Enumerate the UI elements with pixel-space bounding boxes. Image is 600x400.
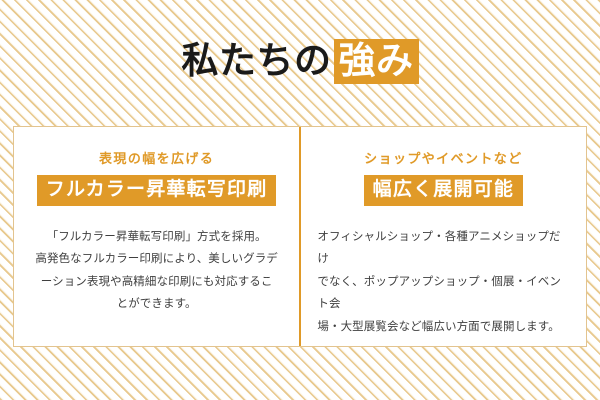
- body-line: 場・大型展覧会など幅広い方面で展開します。: [317, 316, 569, 338]
- strength-column-wide-deployment: ショップやイベントなど 幅広く展開可能 オフィシャルショップ・各種アニメショップ…: [301, 127, 586, 346]
- page-title-plain-text: 私たちの: [182, 42, 332, 81]
- page-root: 私たちの強み 表現の幅を広げる フルカラー昇華転写印刷 「フルカラー昇華転写印刷…: [0, 0, 600, 400]
- column-subtitle: 表現の幅を広げる: [99, 153, 214, 166]
- body-line: オフィシャルショップ・各種アニメショップだけ: [317, 226, 569, 271]
- body-line: とができます。: [32, 293, 282, 315]
- strengths-panel: 表現の幅を広げる フルカラー昇華転写印刷 「フルカラー昇華転写印刷」方式を採用。…: [13, 126, 587, 347]
- body-line: 高発色なフルカラー印刷により、美しいグラデ: [32, 248, 282, 270]
- body-line: でなく、ポップアップショップ・個展・イベント会: [317, 271, 569, 316]
- column-heading-badge: フルカラー昇華転写印刷: [37, 175, 277, 206]
- column-body-text: 「フルカラー昇華転写印刷」方式を採用。 高発色なフルカラー印刷により、美しいグラ…: [32, 226, 282, 316]
- page-title-container: 私たちの強み: [0, 32, 600, 90]
- column-subtitle: ショップやイベントなど: [364, 153, 522, 166]
- page-title-highlight-text: 強み: [334, 39, 419, 84]
- page-title: 私たちの強み: [182, 39, 419, 84]
- column-body-text: オフィシャルショップ・各種アニメショップだけ でなく、ポップアップショップ・個展…: [317, 226, 569, 338]
- strength-column-full-color-printing: 表現の幅を広げる フルカラー昇華転写印刷 「フルカラー昇華転写印刷」方式を採用。…: [14, 127, 299, 346]
- column-heading-badge: 幅広く展開可能: [364, 175, 523, 206]
- body-line: 「フルカラー昇華転写印刷」方式を採用。: [32, 226, 282, 248]
- body-line: ーション表現や高精細な印刷にも対応するこ: [32, 271, 282, 293]
